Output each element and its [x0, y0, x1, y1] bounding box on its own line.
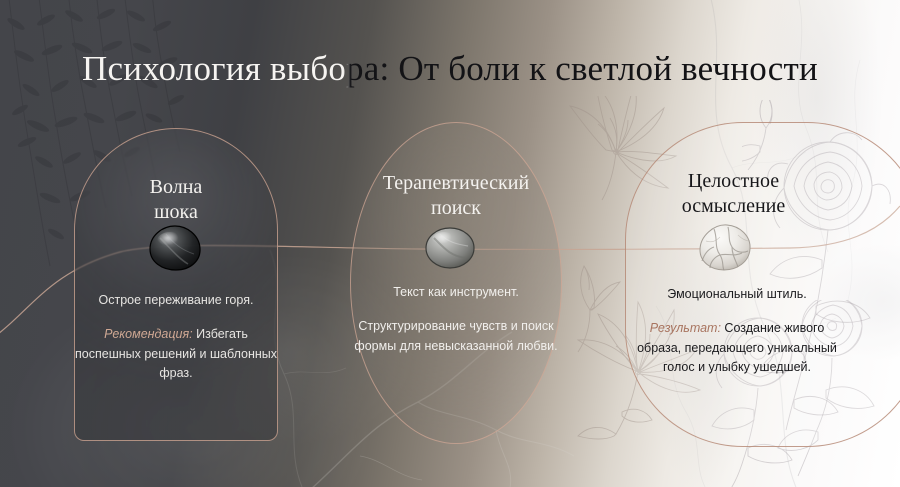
stage-lead-text: Острое переживание горя.	[75, 291, 277, 310]
stage-title-therapeutic-search: Терапевтический поиск	[351, 171, 561, 221]
stage-title-line2: осмысление	[682, 195, 786, 217]
stage-card-holistic-comprehension[interactable]: Целостное осмысление Эмоциональный штиль…	[625, 122, 900, 447]
stage-tag-label: Результат:	[650, 321, 721, 335]
stage-lead-text: Эмоциональный штиль.	[626, 285, 848, 304]
stage-tag-body: Структурирование чувств и поиск формы дл…	[354, 319, 557, 352]
stage-title-line2: шока	[154, 201, 198, 223]
stage-card-shock-wave[interactable]: Волна шока Острое переживание горя. Реко…	[74, 128, 278, 441]
stage-body-holistic-comprehension: Эмоциональный штиль. Результат: Создание…	[626, 285, 848, 378]
slide-canvas: Психология выбора: От боли к светлой веч…	[0, 0, 900, 487]
stage-title-line1: Терапевтический	[383, 172, 529, 194]
stage-card-therapeutic-search[interactable]: Терапевтический поиск Текст как инструме…	[350, 122, 562, 444]
stage-body-shock-wave: Острое переживание горя. Рекомендация: И…	[75, 291, 277, 384]
stage-lead-text: Текст как инструмент.	[351, 283, 561, 302]
stage-title-holistic-comprehension: Целостное осмысление	[626, 169, 841, 219]
stage-title-shock-wave: Волна шока	[75, 175, 277, 225]
stage-title-line1: Волна	[150, 176, 203, 198]
stage-title-line2: поиск	[431, 197, 481, 219]
stage-tag-label: Рекомендация:	[104, 327, 193, 341]
stage-title-line1: Целостное	[688, 170, 779, 192]
stage-body-therapeutic-search: Текст как инструмент. Структурирование ч…	[351, 283, 561, 356]
